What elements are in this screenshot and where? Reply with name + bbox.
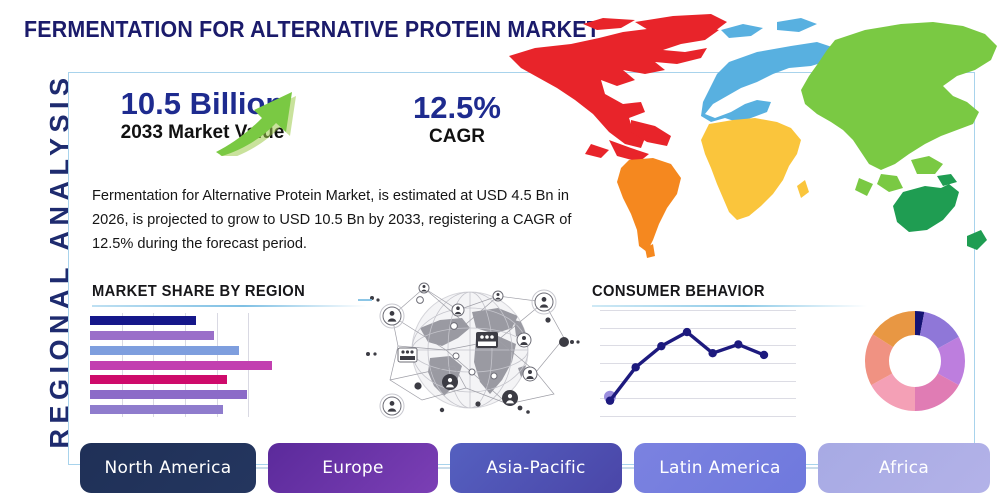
bar-chart-bar: [90, 405, 223, 414]
region-tab-label: Africa: [879, 458, 929, 478]
section-rule-market-share: [92, 305, 367, 307]
region-tab-europe[interactable]: Europe: [268, 443, 438, 493]
tab-connector: [622, 467, 634, 469]
map-region-africa: [701, 118, 809, 220]
line-chart-point: [631, 363, 639, 371]
network-globe-icon: [358, 276, 582, 424]
line-chart-point: [683, 328, 691, 336]
kpi-cagr: 12.5% CAGR: [387, 92, 527, 148]
tab-connector: [438, 467, 450, 469]
map-region-south-america: [617, 158, 681, 258]
bar-chart-bar: [90, 316, 196, 325]
region-tab-latin-america[interactable]: Latin America: [634, 443, 806, 493]
map-region-asia: [801, 22, 997, 196]
infographic-root: FERMENTATION FOR ALTERNATIVE PROTEIN MAR…: [0, 0, 1000, 500]
region-tab-label: Latin America: [659, 458, 780, 478]
region-tab-africa[interactable]: Africa: [818, 443, 990, 493]
kpi-row: 10.5 Billion 2033 Market Value 12.5% CAG…: [95, 88, 525, 168]
bar-chart-bar: [90, 331, 214, 340]
region-tab-label: North America: [105, 458, 232, 478]
map-region-north-america: [509, 14, 727, 162]
tab-connector: [806, 467, 818, 469]
line-chart-point: [734, 340, 742, 348]
region-tab-north-america[interactable]: North America: [80, 443, 256, 493]
line-chart-point: [708, 349, 716, 357]
section-heading-consumer-behavior: CONSUMER BEHAVIOR: [592, 283, 765, 301]
bar-chart-bar: [90, 375, 227, 384]
market-share-bar-chart: [90, 313, 280, 417]
section-rule-consumer-behavior: [592, 305, 867, 307]
line-chart-point: [760, 351, 768, 359]
kpi-cagr-label: CAGR: [387, 126, 527, 149]
kpi-cagr-number: 12.5%: [387, 92, 527, 125]
map-region-oceania: [893, 174, 987, 250]
description-text: Fermentation for Alternative Protein Mar…: [92, 185, 592, 256]
consumer-behavior-donut-chart: [862, 308, 968, 414]
tab-connector: [256, 467, 268, 469]
region-tab-asia-pacific[interactable]: Asia-Pacific: [450, 443, 622, 493]
line-chart-point: [606, 397, 614, 405]
consumer-behavior-line-chart: [600, 308, 796, 418]
bar-chart-bar: [90, 390, 247, 399]
section-heading-market-share: MARKET SHARE BY REGION: [92, 283, 305, 301]
line-chart-point: [657, 342, 665, 350]
region-tab-label: Europe: [322, 458, 384, 478]
bar-chart-bar: [90, 346, 239, 355]
region-tab-label: Asia-Pacific: [486, 458, 585, 478]
line-chart-series: [600, 308, 796, 418]
growth-arrow-icon: [212, 78, 304, 156]
bar-chart-bar: [90, 361, 272, 370]
